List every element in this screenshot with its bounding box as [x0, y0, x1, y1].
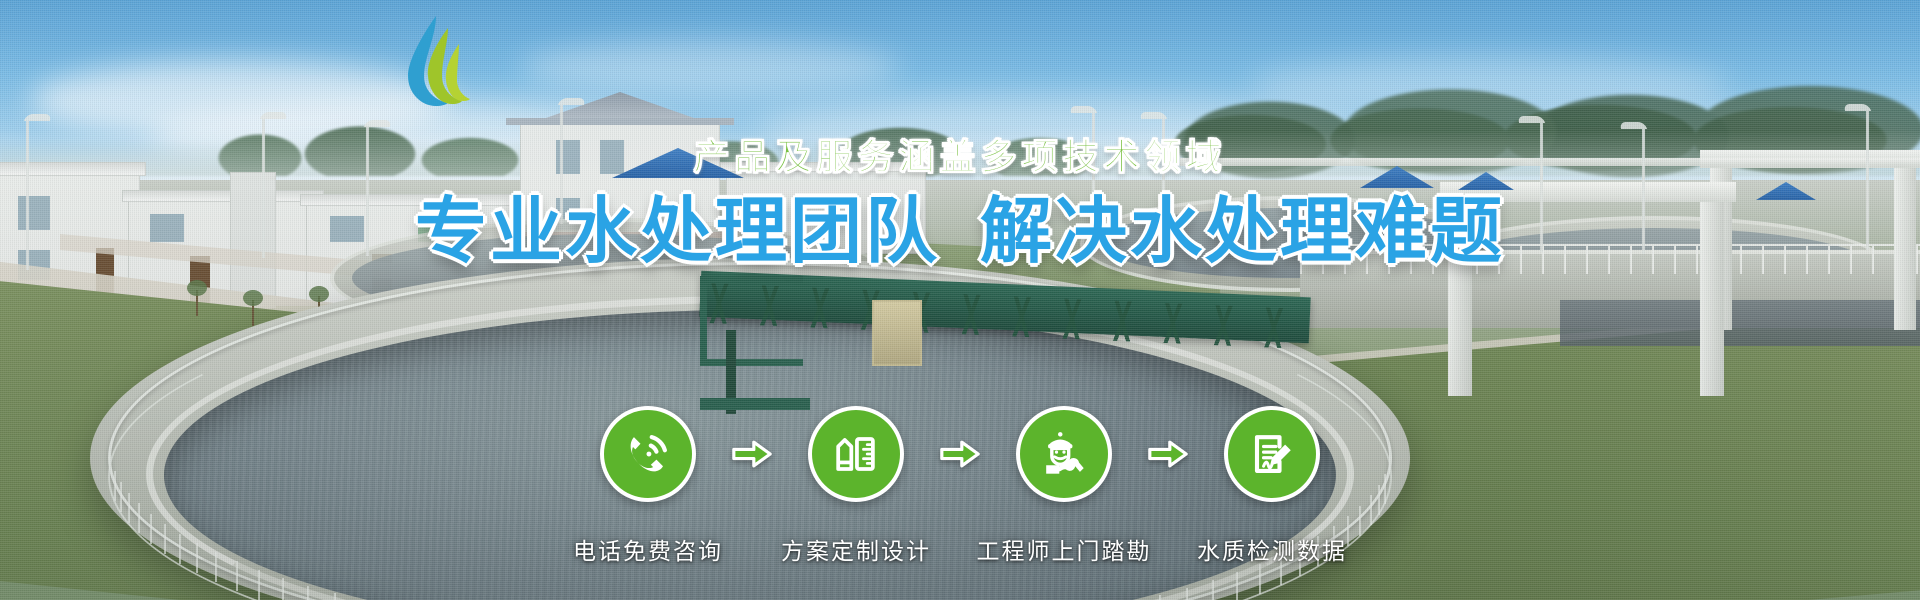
step-phone-consult[interactable]: 电话免费咨询	[573, 406, 723, 566]
step-label: 工程师上门踏勘	[977, 532, 1152, 566]
step-engineer-site-survey[interactable]: 工程师上门踏勘	[989, 406, 1139, 566]
document-pen-icon[interactable]	[1224, 406, 1320, 502]
phone-call-icon[interactable]	[600, 406, 696, 502]
water-droplet-leaf-logo	[396, 14, 474, 110]
engineer-wrench-icon[interactable]	[1016, 406, 1112, 502]
logo-leaf-green-inner	[446, 44, 470, 101]
main-headline: 专业水处理团队解决水处理难题	[0, 172, 1920, 277]
railing-post	[1236, 572, 1238, 600]
treatment-channel	[1560, 300, 1920, 346]
process-steps-row: 电话免费咨询 方案定制设计	[0, 406, 1920, 566]
railing-post	[1212, 580, 1214, 600]
step-water-quality-data[interactable]: 水质检测数据	[1197, 406, 1347, 566]
railing-post	[1259, 564, 1261, 594]
hero-banner: 产品及服务涵盖多项技术领域 专业水处理团队解决水处理难题 电话免费咨询	[0, 0, 1920, 600]
railing-post	[1186, 588, 1188, 600]
headline-part-1: 专业水处理团队	[415, 189, 940, 273]
arrow-right-icon	[723, 406, 781, 502]
headline-part-2: 解决水处理难题	[980, 189, 1505, 273]
equipment-box	[872, 300, 922, 366]
pencil-ruler-icon[interactable]	[808, 406, 904, 502]
railing-post	[307, 586, 309, 600]
railing-post	[258, 570, 260, 600]
arrow-right-icon	[931, 406, 989, 502]
railing-post	[334, 593, 336, 600]
step-label: 电话免费咨询	[573, 532, 723, 566]
railing-post	[1159, 595, 1161, 600]
step-label: 方案定制设计	[781, 532, 931, 566]
arrow-right-icon	[1139, 406, 1197, 502]
railing-post	[282, 578, 284, 600]
step-custom-design[interactable]: 方案定制设计	[781, 406, 931, 566]
roof-eave	[506, 118, 734, 125]
cloud	[520, 40, 900, 95]
step-label: 水质检测数据	[1197, 532, 1347, 566]
scraper-drive-cabinet	[700, 276, 803, 366]
